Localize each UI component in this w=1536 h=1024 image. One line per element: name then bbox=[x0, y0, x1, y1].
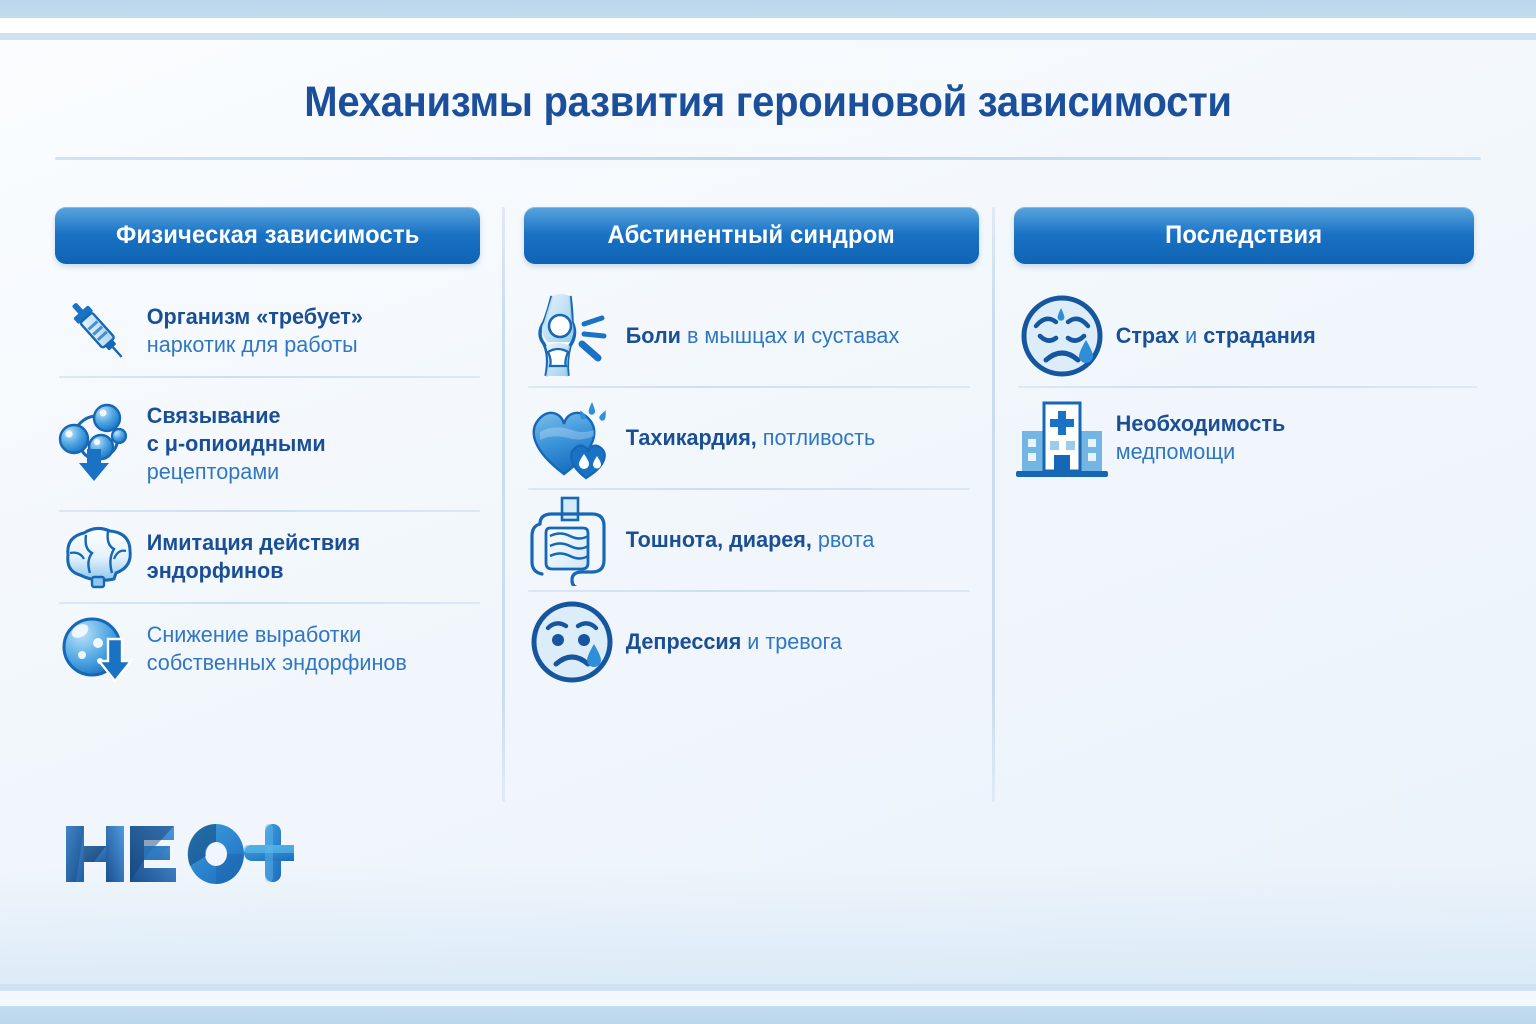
item-line-rest: и тревога bbox=[741, 629, 842, 654]
item-line: Боли bbox=[626, 323, 681, 348]
item-line: Тахикардия, bbox=[626, 425, 757, 450]
list-item[interactable]: Имитация действия эндорфинов bbox=[55, 512, 484, 602]
bottom-band-line bbox=[0, 984, 1536, 991]
item-line-tail: страдания bbox=[1203, 323, 1315, 348]
brain-icon bbox=[55, 521, 141, 593]
item-line-rest: рвота bbox=[812, 527, 874, 552]
item-list: Боли в мышцах и суставах bbox=[524, 286, 974, 692]
list-item[interactable]: Снижение выработки собственных эндорфино… bbox=[55, 604, 484, 694]
intestines-icon bbox=[524, 494, 620, 586]
top-band-white bbox=[0, 18, 1536, 33]
column-header-label: Абстинентный синдром bbox=[608, 221, 895, 250]
column-header-label: Физическая зависимость bbox=[116, 221, 420, 250]
page-title: Механизмы развития героиновой зависимост… bbox=[54, 78, 1482, 127]
sad-face-icon bbox=[524, 596, 620, 688]
list-item[interactable]: Страх и страдания bbox=[1014, 286, 1481, 386]
item-list: Страх и страдания bbox=[1014, 286, 1481, 488]
column-header-consequences[interactable]: Последствия bbox=[1014, 207, 1474, 264]
list-item[interactable]: Необходимость медпомощи bbox=[1014, 388, 1481, 488]
item-line: Страх bbox=[1116, 323, 1179, 348]
item-line: с μ-опиоидными bbox=[147, 431, 326, 456]
top-band-outer bbox=[0, 0, 1536, 18]
endorphin-decrease-icon bbox=[55, 609, 141, 689]
item-line: Тошнота, диарея, bbox=[626, 527, 812, 552]
item-line: Имитация действия bbox=[147, 530, 360, 555]
column-consequences: Последствия bbox=[992, 207, 1481, 807]
list-item[interactable]: Депрессия и тревога bbox=[524, 592, 974, 692]
item-line: Организм «требует» bbox=[147, 304, 363, 329]
crying-face-icon bbox=[1014, 290, 1110, 382]
column-physical-dependence: Физическая зависимость bbox=[55, 207, 502, 807]
columns-container: Физическая зависимость bbox=[55, 207, 1481, 807]
item-list: Организм «требует» наркотик для работы bbox=[55, 286, 484, 694]
list-item-text: Связывание с μ-опиоидными рецепторами bbox=[141, 402, 326, 486]
column-header-withdrawal-syndrome[interactable]: Абстинентный синдром bbox=[524, 207, 979, 264]
list-item-text: Тошнота, диарея, рвота bbox=[620, 526, 874, 554]
list-item[interactable]: Тахикардия, потливость bbox=[524, 388, 974, 488]
list-item[interactable]: Боли в мышцах и суставах bbox=[524, 286, 974, 386]
item-line-rest: и bbox=[1179, 323, 1203, 348]
item-line: рецепторами bbox=[147, 459, 279, 484]
item-line: собственных эндорфинов bbox=[147, 650, 407, 675]
list-item-text: Депрессия и тревога bbox=[620, 628, 842, 656]
list-item-text: Снижение выработки собственных эндорфино… bbox=[141, 621, 407, 677]
column-withdrawal-syndrome: Абстинентный синдром bbox=[502, 207, 992, 807]
column-header-physical-dependence[interactable]: Физическая зависимость bbox=[55, 207, 480, 264]
list-item-text: Тахикардия, потливость bbox=[620, 424, 875, 452]
list-item[interactable]: Связывание с μ-опиоидными рецепторами bbox=[55, 378, 484, 510]
item-line: Необходимость bbox=[1116, 411, 1285, 436]
list-item-text: Имитация действия эндорфинов bbox=[141, 529, 360, 585]
top-band-line bbox=[0, 33, 1536, 40]
title-divider bbox=[55, 157, 1481, 160]
item-line: наркотик для работы bbox=[147, 332, 358, 357]
item-line: Депрессия bbox=[626, 629, 742, 654]
item-line: Связывание bbox=[147, 403, 281, 428]
heart-sweat-icon bbox=[524, 394, 620, 482]
item-line: медпомощи bbox=[1116, 439, 1235, 464]
list-item-text: Организм «требует» наркотик для работы bbox=[141, 303, 363, 359]
item-line-rest: в мышцах и суставах bbox=[681, 323, 899, 348]
item-line-rest: потливость bbox=[757, 425, 876, 450]
syringe-icon bbox=[55, 292, 141, 370]
neo-plus-logo[interactable] bbox=[62, 818, 294, 890]
infographic-slide: Механизмы развития героиновой зависимост… bbox=[0, 0, 1536, 1024]
bottom-band-white bbox=[0, 991, 1536, 1006]
joint-pain-icon bbox=[524, 290, 620, 382]
list-item[interactable]: Тошнота, диарея, рвота bbox=[524, 490, 974, 590]
receptor-molecules-icon bbox=[55, 401, 141, 487]
list-item[interactable]: Организм «требует» наркотик для работы bbox=[55, 286, 484, 376]
list-item-text: Необходимость медпомощи bbox=[1110, 410, 1285, 466]
list-item-text: Боли в мышцах и суставах bbox=[620, 322, 899, 350]
list-item-text: Страх и страдания bbox=[1110, 322, 1316, 350]
bottom-band-outer bbox=[0, 1006, 1536, 1024]
item-line: эндорфинов bbox=[147, 558, 284, 583]
column-header-label: Последствия bbox=[1165, 221, 1322, 250]
hospital-icon bbox=[1014, 395, 1110, 481]
item-line: Снижение выработки bbox=[147, 622, 361, 647]
